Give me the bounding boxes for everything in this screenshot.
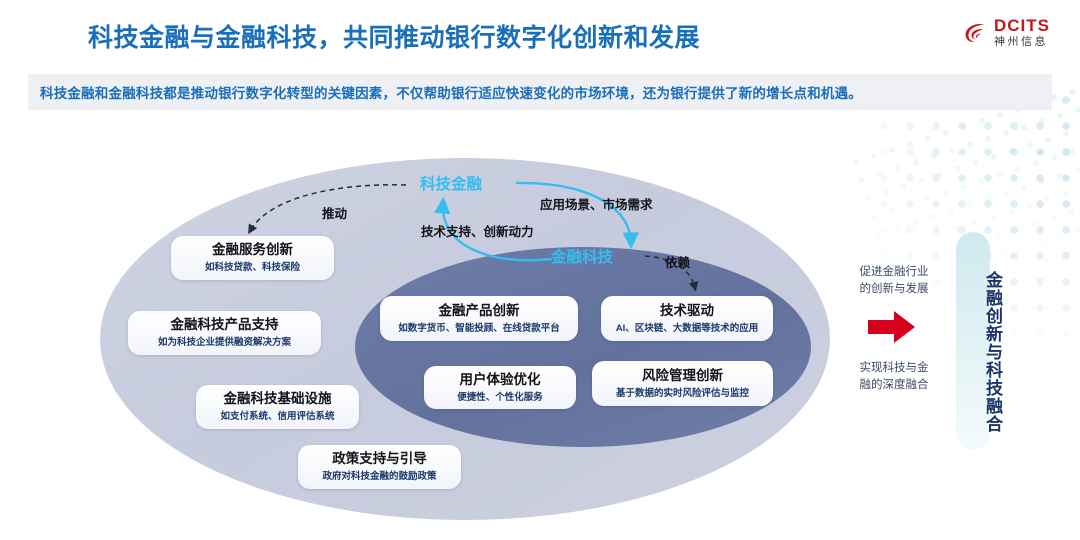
card-subtitle: AI、区块链、大数据等技术的应用 bbox=[616, 323, 759, 334]
card-subtitle: 如数字货币、智能投顾、在线贷款平台 bbox=[398, 323, 560, 334]
card-title: 金融产品创新 bbox=[439, 303, 520, 320]
brand-logo: DCITS 神州信息 bbox=[963, 17, 1050, 48]
subtitle-banner: 科技金融和金融科技都是推动银行数字化转型的关键因素，不仅帮助银行适应快速变化的市… bbox=[28, 74, 1052, 110]
card-fintech-product-support[interactable]: 金融科技产品支持 如为科技企业提供融资解决方案 bbox=[128, 311, 321, 355]
note-promote-innovation: 促进金融行业 的创新与发展 bbox=[846, 264, 942, 297]
card-title: 金融服务创新 bbox=[212, 242, 293, 259]
card-user-experience-optimization[interactable]: 用户体验优化 便捷性、个性化服务 bbox=[424, 366, 576, 409]
logo-wordmark-en: DCITS bbox=[994, 17, 1050, 34]
card-financial-service-innovation[interactable]: 金融服务创新 如科技贷款、科技保险 bbox=[171, 236, 334, 280]
inner-ellipse bbox=[355, 247, 811, 447]
label-tech-support: 技术支持、创新动力 bbox=[421, 221, 534, 240]
card-risk-management-innovation[interactable]: 风险管理创新 基于数据的实时风险评估与监控 bbox=[592, 361, 773, 406]
subtitle-text: 科技金融和金融科技都是推动银行数字化转型的关键因素，不仅帮助银行适应快速变化的市… bbox=[28, 82, 862, 102]
card-title: 金融科技基础设施 bbox=[224, 391, 332, 408]
label-depend: 依赖 bbox=[665, 252, 690, 271]
page-title: 科技金融与金融科技，共同推动银行数字化创新和发展 bbox=[88, 18, 700, 54]
card-subtitle: 如支付系统、信用评估系统 bbox=[220, 411, 334, 422]
card-fintech-infrastructure[interactable]: 金融科技基础设施 如支付系统、信用评估系统 bbox=[196, 385, 359, 429]
card-title: 政策支持与引导 bbox=[332, 451, 427, 468]
card-subtitle: 政府对科技金融的鼓励政策 bbox=[322, 471, 436, 482]
card-subtitle: 便捷性、个性化服务 bbox=[457, 392, 543, 403]
label-fintech: 金融科技 bbox=[551, 245, 613, 267]
label-drive: 推动 bbox=[322, 203, 347, 222]
card-title: 金融科技产品支持 bbox=[171, 317, 279, 334]
label-scenario-demand: 应用场景、市场需求 bbox=[540, 194, 653, 213]
vertical-title: 金融创新与科技融合 bbox=[945, 240, 1001, 464]
card-policy-support[interactable]: 政策支持与引导 政府对科技金融的鼓励政策 bbox=[298, 445, 461, 489]
card-subtitle: 如为科技企业提供融资解决方案 bbox=[158, 337, 291, 348]
card-technology-driven[interactable]: 技术驱动 AI、区块链、大数据等技术的应用 bbox=[601, 296, 773, 341]
card-title: 用户体验优化 bbox=[460, 372, 541, 389]
card-subtitle: 如科技贷款、科技保险 bbox=[205, 262, 300, 273]
red-right-arrow-icon bbox=[868, 310, 916, 344]
slide-canvas: 科技金融与金融科技，共同推动银行数字化创新和发展 DCITS 神州信息 科技金融… bbox=[0, 0, 1080, 540]
card-subtitle: 基于数据的实时风险评估与监控 bbox=[616, 388, 749, 399]
card-title: 风险管理创新 bbox=[642, 368, 723, 385]
logo-wordmark-cn: 神州信息 bbox=[994, 37, 1050, 48]
label-tech-finance: 科技金融 bbox=[420, 172, 482, 194]
note-deep-integration: 实现科技与金 融的深度融合 bbox=[846, 360, 942, 393]
dcits-swirl-logo-icon bbox=[963, 20, 989, 46]
card-financial-product-innovation[interactable]: 金融产品创新 如数字货币、智能投顾、在线贷款平台 bbox=[380, 296, 578, 341]
card-title: 技术驱动 bbox=[660, 303, 714, 320]
